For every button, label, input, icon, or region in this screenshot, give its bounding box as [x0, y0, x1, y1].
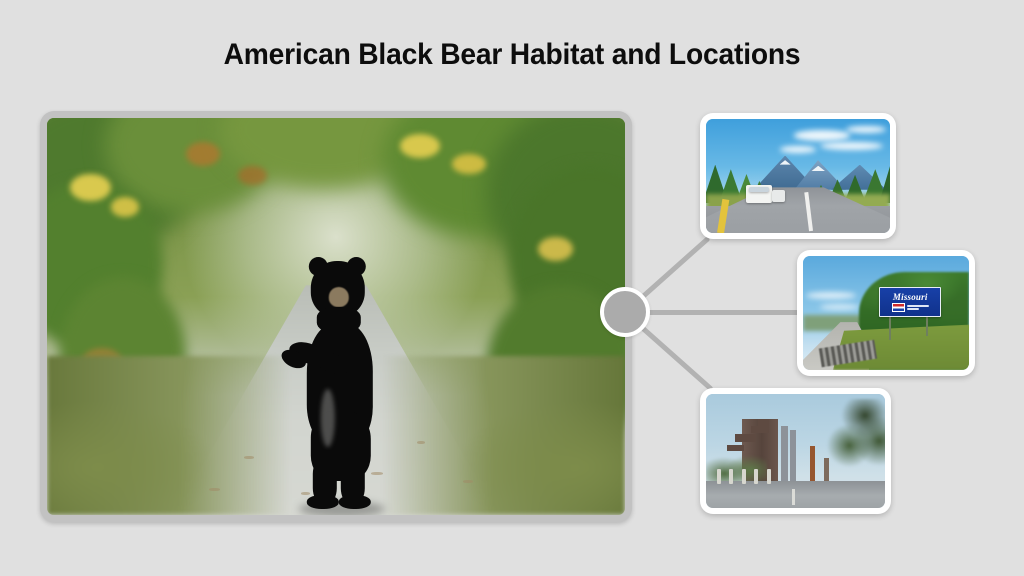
- smokestack: [810, 446, 815, 480]
- bear-chest-highlight: [321, 389, 335, 447]
- missouri-flag-icon: [892, 303, 905, 312]
- furnace-structure: [758, 419, 769, 428]
- tree-canopy-right: [821, 399, 885, 474]
- thumbnail-mountain-highway[interactable]: [700, 113, 896, 239]
- missouri-welcome-sign: Missouri: [879, 287, 941, 318]
- autumn-leaf-accent: [70, 174, 110, 202]
- slide-canvas: American Black Bear Habitat and Location…: [0, 0, 1024, 576]
- thumbnail-industrial-steel-mill[interactable]: [700, 388, 891, 514]
- grass-verge-right: [382, 356, 625, 515]
- autumn-leaf-accent: [238, 166, 267, 186]
- roadside-bollard: [729, 469, 733, 484]
- main-image-frame[interactable]: [40, 111, 632, 522]
- connector-line-to-missouri-sign: [625, 310, 801, 315]
- sign-text-line: [907, 308, 919, 310]
- page-title: American Black Bear Habitat and Location…: [31, 38, 994, 72]
- path-debris: [417, 441, 425, 444]
- mountain-highway-photo: [706, 119, 890, 233]
- grass-verge-left: [47, 356, 290, 515]
- recreational-vehicle-window: [749, 187, 769, 192]
- cloud: [846, 126, 886, 133]
- smokestack: [781, 426, 788, 481]
- thumbnail-missouri-state-sign[interactable]: Missouri: [797, 250, 975, 376]
- bear-foot-right: [339, 495, 371, 509]
- path-debris: [209, 488, 220, 491]
- autumn-leaf-accent: [400, 134, 440, 158]
- sign-subtext-row: [892, 303, 929, 312]
- cloud: [820, 142, 883, 150]
- smokestack: [790, 430, 796, 480]
- roadside-bollard: [717, 469, 721, 484]
- roadside-bollard: [742, 469, 746, 484]
- roadside-bollard: [754, 469, 758, 484]
- street-surface: [706, 481, 885, 508]
- industrial-site-photo: [706, 394, 885, 508]
- second-vehicle: [772, 190, 785, 203]
- cloud: [820, 304, 860, 310]
- missouri-sign-photo: Missouri: [803, 256, 969, 370]
- sign-text-line: [907, 305, 929, 307]
- autumn-leaf-accent: [452, 154, 487, 174]
- autumn-leaf-accent: [186, 142, 221, 166]
- furnace-structure: [735, 434, 756, 442]
- sign-state-name: Missouri: [893, 293, 928, 302]
- road-center-line: [792, 489, 795, 505]
- sign-text-lines: [907, 305, 929, 310]
- american-black-bear-photo: [47, 118, 625, 515]
- autumn-leaf-accent: [538, 237, 573, 261]
- bear-muzzle: [329, 287, 349, 307]
- center-node[interactable]: [600, 287, 650, 337]
- cloud: [794, 130, 849, 140]
- roadside-bollard: [767, 469, 771, 484]
- black-bear-figure: [281, 261, 401, 513]
- bear-foot-left: [307, 495, 339, 509]
